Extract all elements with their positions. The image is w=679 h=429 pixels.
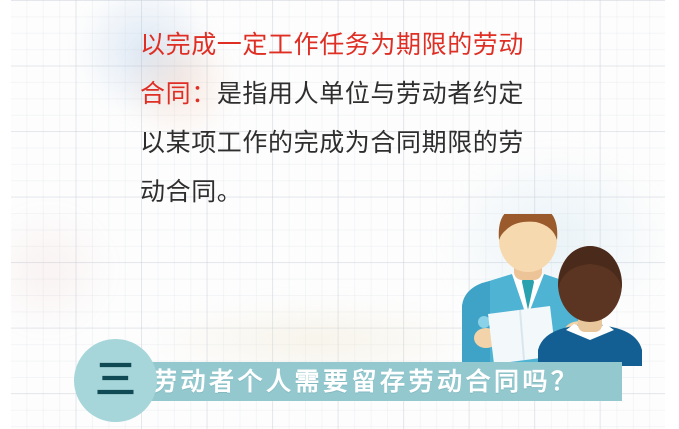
section-number-label: 三 (74, 339, 157, 422)
poster-canvas: 以完成一定工作任务为期限的劳动 合同：是指用人单位与劳动者约定 以某项工作的完成… (0, 0, 679, 429)
definition-line-4: 动合同。 (140, 167, 550, 216)
definition-line-3: 以某项工作的完成为合同期限的劳 (140, 118, 550, 167)
definition-paragraph: 以完成一定工作任务为期限的劳动 合同：是指用人单位与劳动者约定 以某项工作的完成… (140, 20, 550, 216)
definition-line-2: 合同：是指用人单位与劳动者约定 (140, 69, 550, 118)
definition-line-2-rest: 是指用人单位与劳动者约定 (217, 79, 524, 108)
page-margin-left (0, 0, 11, 429)
section-number-badge: 三 (74, 339, 157, 422)
two-business-people-illustration (440, 214, 679, 366)
definition-line-1-highlight: 以完成一定工作任务为期限的劳动 (140, 30, 524, 59)
business-people-icon (440, 214, 679, 366)
section-banner-bar: 劳动者个人需要留存劳动合同吗？ (106, 362, 622, 401)
front-figure-lapel-detail (478, 316, 490, 328)
section-banner-heading: 劳动者个人需要留存劳动合同吗？ (152, 362, 612, 401)
definition-line-4-rest: 动合同。 (140, 177, 242, 206)
page-margin-right (665, 0, 679, 429)
definition-line-1: 以完成一定工作任务为期限的劳动 (140, 20, 550, 69)
definition-line-3-rest: 以某项工作的完成为合同期限的劳 (140, 128, 524, 157)
definition-line-2-highlight: 合同： (140, 79, 217, 108)
